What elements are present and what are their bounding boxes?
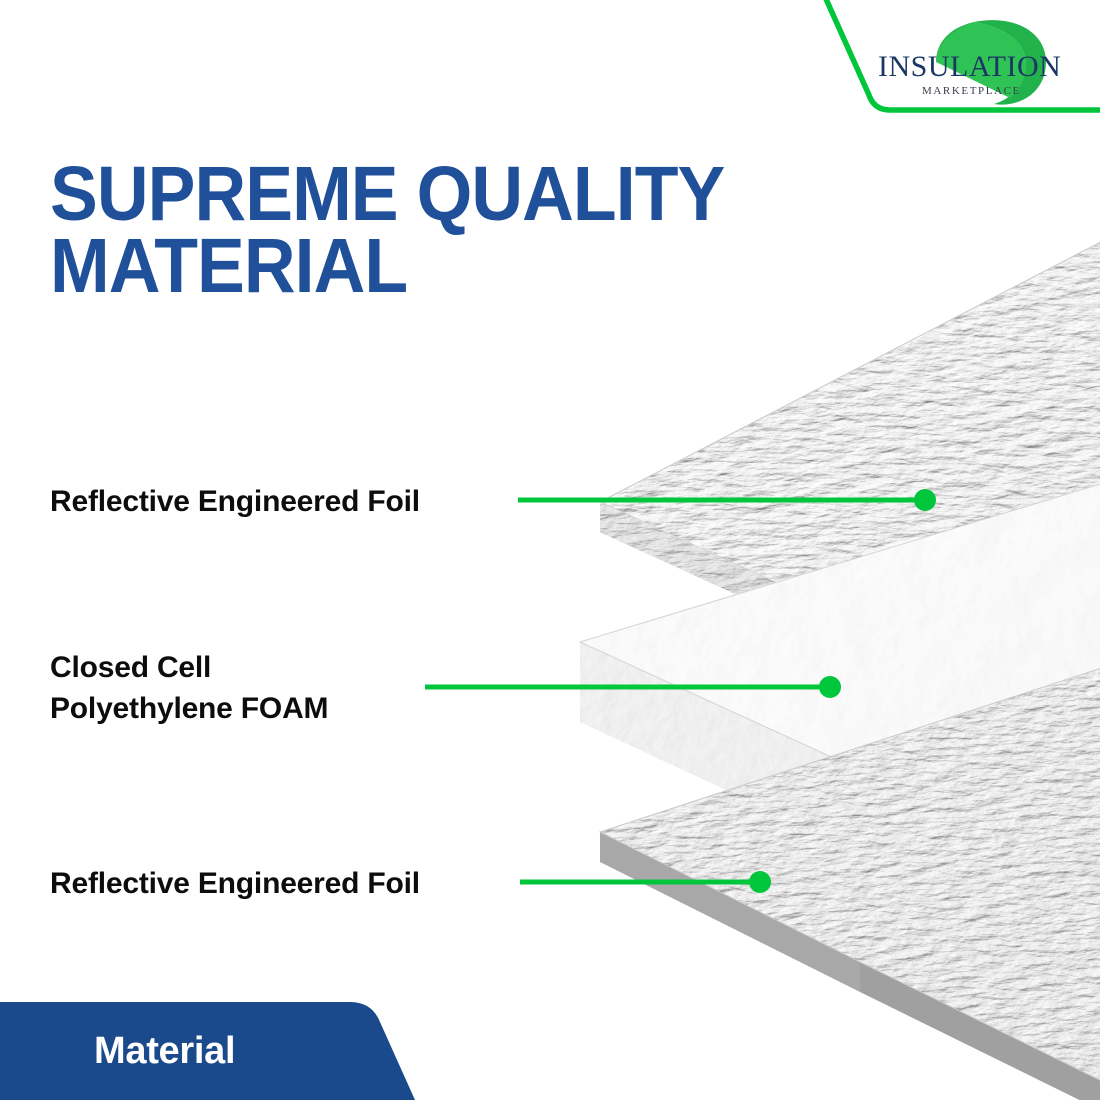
callout-label-foam: Closed Cell Polyethylene FOAM (50, 648, 328, 729)
callout-label-top-foil: Reflective Engineered Foil (50, 482, 420, 523)
logo-wordmark: INSULATION (878, 50, 1061, 83)
brand-logo[interactable]: INSULATION MARKETPLACE (878, 18, 1083, 106)
callout-label-bottom-foil: Reflective Engineered Foil (50, 864, 420, 905)
banner-label: Material (94, 1030, 235, 1073)
logo-tagline: MARKETPLACE (922, 85, 1021, 97)
product-layer-stack (560, 210, 1100, 1100)
infographic-page: INSULATION MARKETPLACE SUPREME QUALITY M… (0, 0, 1100, 1100)
